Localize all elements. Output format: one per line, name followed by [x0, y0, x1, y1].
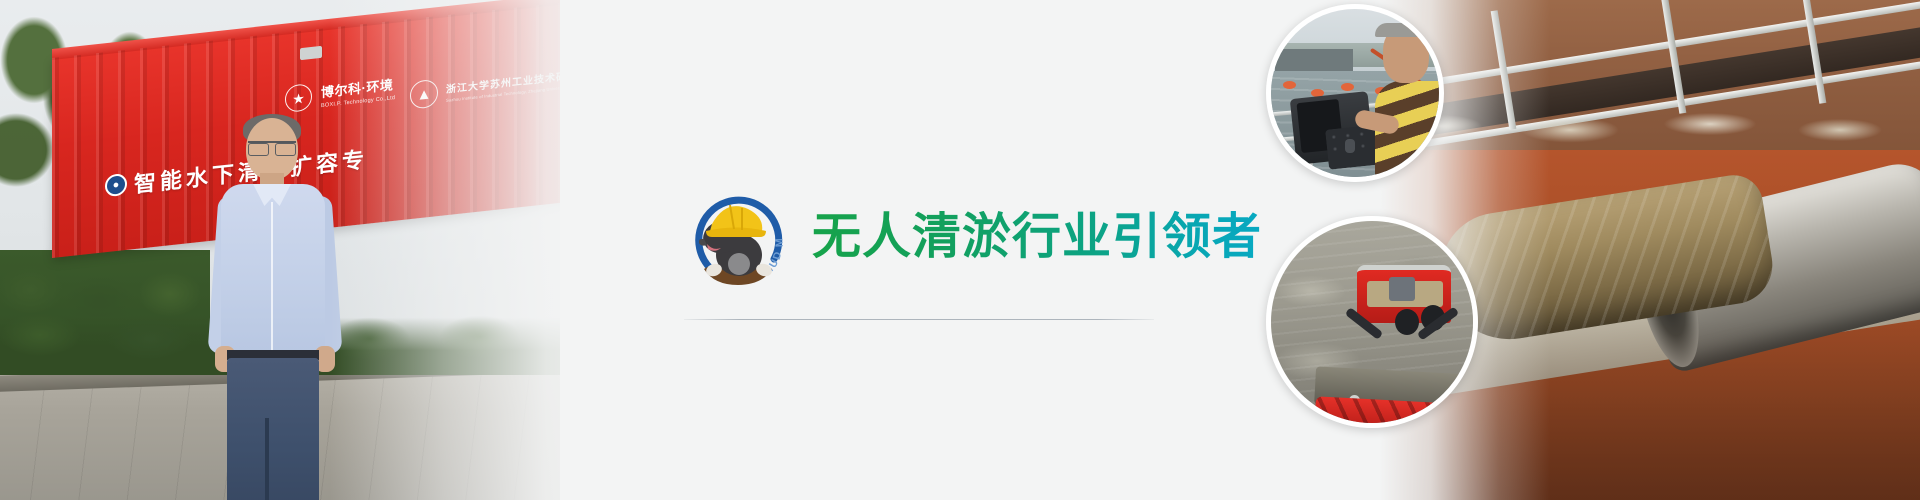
robot-wheel: [1395, 309, 1419, 335]
person-shirt-placket: [271, 202, 273, 352]
c1-float-marker: [1283, 81, 1296, 89]
c1-shed: [1275, 49, 1353, 71]
left-photo: ★ 博尔科·环境 BOXI.P. Technology Co.,Ltd ▲ 浙江…: [0, 0, 560, 500]
brand-seal-icon: ★: [285, 83, 312, 113]
person-figure: [215, 118, 335, 500]
operator-circle-photo: [1266, 4, 1444, 182]
right-photo-group: [1240, 0, 1920, 500]
person-shirt: [221, 184, 325, 356]
mud-mole-logo: MUD MOLE: [682, 181, 794, 293]
center-content: MUD MOLE: [660, 0, 1280, 500]
console-joystick: [1345, 139, 1355, 153]
operator-cap: [1375, 23, 1435, 37]
headline-divider: [684, 319, 1154, 320]
slogan-badge-icon: ●: [105, 173, 127, 197]
headline-text: 无人清淤行业引领者: [812, 211, 1262, 262]
person-trousers: [227, 358, 319, 500]
hero-banner: ★ 博尔科·环境 BOXI.P. Technology Co.,Ltd ▲ 浙江…: [0, 0, 1920, 500]
dredging-robot-circle-photo: [1266, 216, 1478, 428]
trouser-seam: [265, 418, 269, 500]
glasses-icon: [248, 141, 296, 152]
container-roof-unit: [300, 46, 322, 60]
left-photo-fade: [330, 0, 560, 500]
robot-control-box: [1389, 277, 1415, 301]
c1-float-marker: [1341, 83, 1354, 91]
